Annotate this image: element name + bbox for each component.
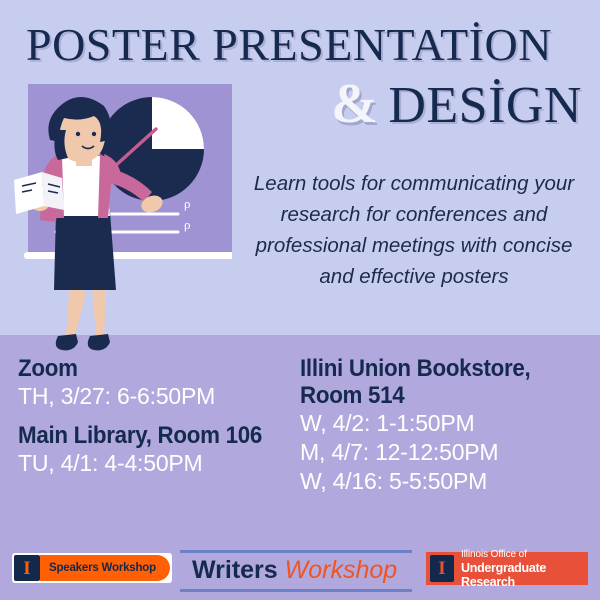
- footer-logos: I Speakers Workshop Writers Workshop I I…: [0, 545, 600, 600]
- schedule-column-right: Illini Union Bookstore, Room 514 W, 4/2:…: [300, 355, 592, 496]
- rule-bottom: [180, 589, 412, 592]
- logo-undergraduate-research[interactable]: I Illinois Office of Undergraduate Resea…: [426, 552, 588, 585]
- ampersand-glyph: &: [331, 73, 378, 135]
- title-design-word: DESİGN: [388, 77, 582, 134]
- workshop-word: Workshop: [285, 556, 398, 584]
- schedule-block: Zoom TH, 3/27: 6-6:50PM: [18, 355, 288, 411]
- logo-speakers-workshop[interactable]: I Speakers Workshop: [12, 553, 172, 583]
- our-line-2: Undergraduate Research: [461, 561, 584, 589]
- svg-text:ρ: ρ: [184, 196, 191, 211]
- speakers-workshop-label: Speakers Workshop: [49, 562, 156, 574]
- svg-text:ρ: ρ: [184, 217, 191, 232]
- writers-word: Writers: [192, 556, 278, 584]
- session-time: M, 4/7: 12-12:50PM: [300, 438, 592, 467]
- venue-name: Main Library, Room 106: [18, 422, 269, 449]
- illinois-block-i-icon: I: [430, 555, 454, 582]
- schedule-section: Zoom TH, 3/27: 6-6:50PM Main Library, Ro…: [0, 355, 600, 540]
- session-time: TH, 3/27: 6-6:50PM: [18, 382, 288, 411]
- speakers-workshop-label-bar: Speakers Workshop: [40, 555, 170, 581]
- session-time: W, 4/16: 5-5:50PM: [300, 467, 592, 496]
- title-line-1: POSTER PRESENTATİON: [26, 20, 582, 70]
- schedule-block: Main Library, Room 106 TU, 4/1: 4-4:50PM: [18, 422, 288, 478]
- schedule-block: Illini Union Bookstore, Room 514 W, 4/2:…: [300, 355, 592, 496]
- skirt: [54, 212, 116, 290]
- title-line-2: &DESİGN: [331, 76, 582, 134]
- schedule-column-left: Zoom TH, 3/27: 6-6:50PM Main Library, Ro…: [18, 355, 288, 478]
- session-time: W, 4/2: 1-1:50PM: [300, 409, 592, 438]
- venue-name: Illini Union Bookstore, Room 514: [300, 355, 572, 409]
- illinois-block-i-icon: I: [14, 555, 40, 581]
- poster: ρ ρ: [0, 0, 600, 600]
- writers-workshop-label: Writers Workshop: [180, 553, 412, 589]
- pie-chart-icon: [100, 97, 204, 201]
- venue-name: Zoom: [18, 355, 269, 382]
- our-line-1: Illinois Office of: [461, 549, 584, 561]
- poster-description: Learn tools for communicating your resea…: [238, 168, 590, 292]
- illustration-woman-presenting: ρ ρ: [0, 84, 232, 364]
- logo-writers-workshop[interactable]: Writers Workshop: [180, 549, 412, 593]
- session-time: TU, 4/1: 4-4:50PM: [18, 449, 288, 478]
